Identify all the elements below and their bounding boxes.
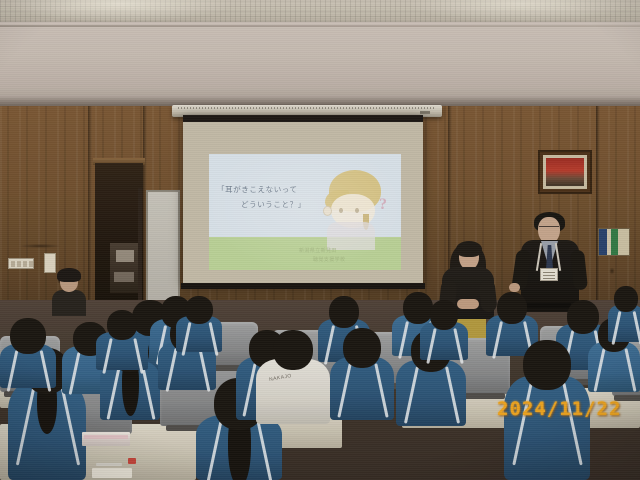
slide-heading: 「耳がきこえないって どういうこと？」 bbox=[217, 182, 347, 212]
paper-sheet bbox=[92, 468, 132, 478]
screen-bottom-bar bbox=[181, 283, 425, 289]
student-head bbox=[497, 292, 527, 324]
question-mark-icon: ? bbox=[379, 196, 387, 214]
upper-wall bbox=[0, 22, 640, 106]
alcove-paper bbox=[116, 250, 134, 262]
student-head bbox=[185, 296, 213, 324]
board-frame-edge bbox=[138, 188, 142, 302]
slide-heading-line2: どういうこと？」 bbox=[217, 197, 347, 212]
picture-artwork bbox=[546, 158, 584, 186]
framed-picture bbox=[538, 150, 592, 194]
student-head bbox=[614, 286, 638, 312]
wall-outlet bbox=[44, 253, 56, 273]
projector-screen: ? 「耳がきこえないって どういうこと？」 新潟県立新発田 聴覚支援学校 bbox=[183, 115, 423, 283]
student bbox=[420, 300, 468, 360]
classroom-photo: ? 「耳がきこえないって どういうこと？」 新潟県立新発田 聴覚支援学校 bbox=[0, 0, 640, 480]
slide-subtitle-line2: 聴覚支援学校 bbox=[299, 256, 391, 265]
glasses-icon bbox=[539, 226, 559, 230]
student bbox=[330, 328, 394, 420]
student bbox=[608, 286, 640, 342]
booklet-band bbox=[84, 435, 128, 439]
slide-subtitle-line1: 新潟県立新発田 bbox=[299, 248, 337, 254]
slide-subtitle: 新潟県立新発田 聴覚支援学校 bbox=[299, 247, 391, 265]
student bbox=[0, 318, 56, 388]
pen bbox=[96, 463, 122, 466]
student-head bbox=[273, 330, 313, 370]
student bbox=[176, 296, 222, 352]
student-head bbox=[10, 318, 46, 354]
camera-date-stamp: 2024/11/22 bbox=[497, 398, 621, 420]
seated-adult-body bbox=[52, 290, 86, 316]
student-head bbox=[343, 328, 381, 368]
eraser bbox=[128, 458, 136, 464]
picture-mat bbox=[543, 155, 587, 189]
seated-adult-hair bbox=[57, 268, 81, 282]
wall-poster bbox=[598, 228, 630, 256]
student-head bbox=[329, 296, 359, 328]
student-uniform bbox=[504, 376, 590, 480]
student bbox=[96, 310, 148, 370]
student-head bbox=[430, 300, 458, 330]
id-badge bbox=[540, 268, 558, 281]
ceiling-light-glow bbox=[0, 0, 640, 22]
whiteboard bbox=[146, 190, 180, 302]
projected-slide: ? 「耳がきこえないって どういうこと？」 新潟県立新発田 聴覚支援学校 bbox=[209, 154, 401, 270]
presenter-hair-top bbox=[456, 241, 482, 257]
student-head bbox=[107, 310, 137, 340]
alcove-paper bbox=[114, 272, 134, 282]
screen-pull-tab[interactable] bbox=[420, 111, 430, 114]
wall-seam bbox=[0, 25, 640, 27]
student-head bbox=[523, 340, 571, 390]
slide-heading-line1: 「耳がきこえないって bbox=[217, 185, 298, 194]
presenter-hand bbox=[509, 283, 520, 292]
light-switch-plate[interactable] bbox=[8, 258, 34, 269]
